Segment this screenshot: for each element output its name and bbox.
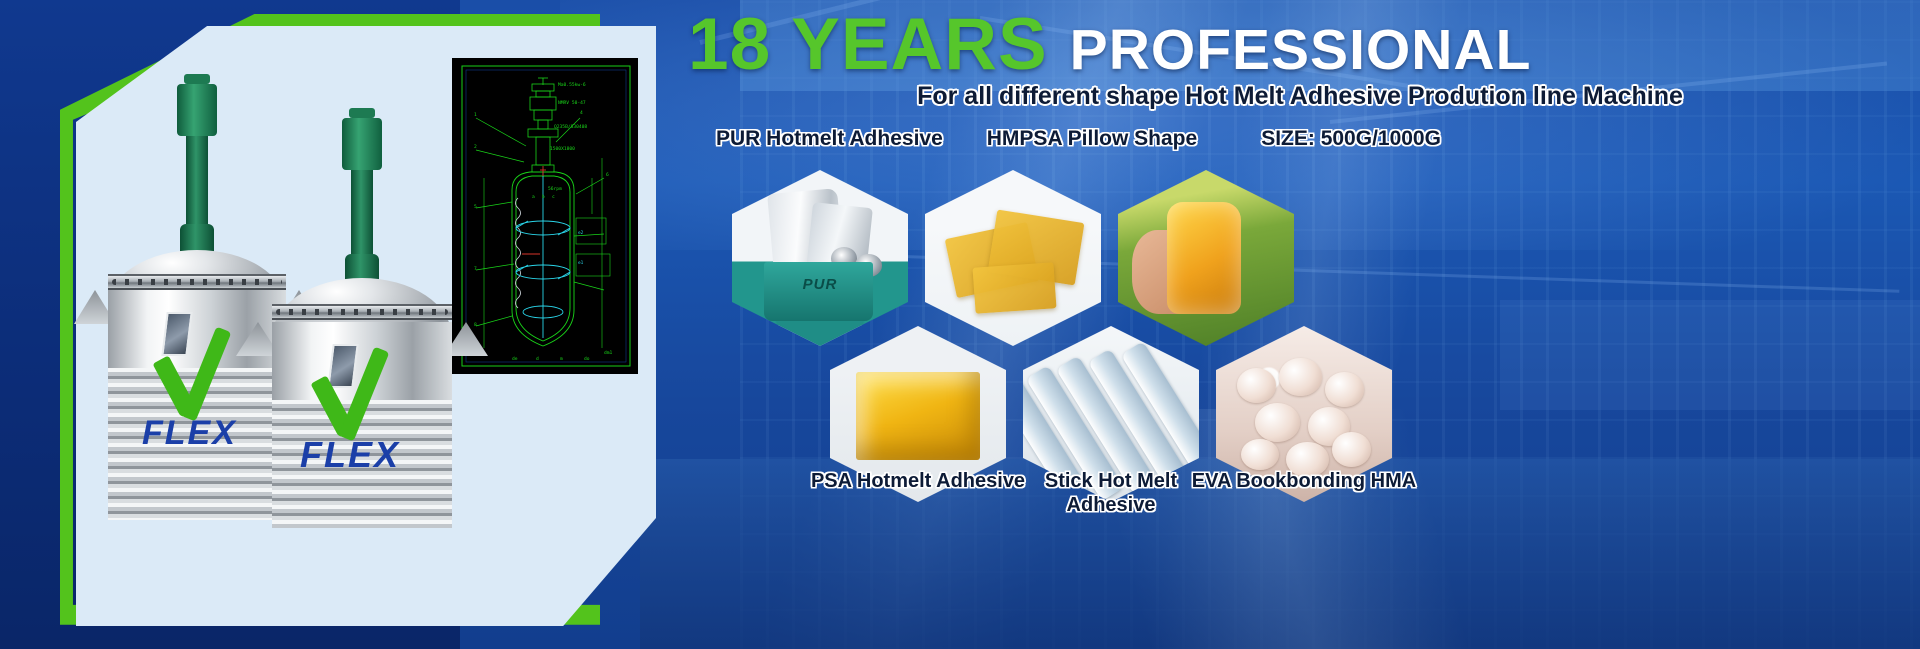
category-label-pur: PUR Hotmelt Adhesive [716, 127, 943, 151]
svg-text:b: b [542, 194, 545, 200]
tank2-motor-cap [349, 108, 375, 118]
svg-text:6: 6 [606, 172, 609, 178]
headline-years: 18 YEARS [688, 8, 1048, 81]
svg-text:c: c [552, 195, 555, 200]
svg-text:de: de [512, 356, 518, 362]
headline-professional: PROFESSIONAL [1070, 22, 1532, 79]
tank-motor-cap [184, 74, 210, 84]
svg-text:4: 4 [580, 110, 583, 116]
promo-banner: Ma0.55kw-6 NMRV 50-47 Q235B/S30408 1500X… [0, 0, 1920, 649]
svg-text:d: d [536, 356, 539, 362]
product-label-eva: EVA Bookbonding HMA [1188, 470, 1420, 494]
svg-text:56rpm: 56rpm [548, 186, 562, 192]
flex-logo-text-left: FLEX [142, 414, 237, 453]
category-label-hmpsa: HMPSA Pillow Shape [987, 127, 1197, 151]
background-beam-5 [1500, 300, 1920, 410]
product-label-psa: PSA Hotmelt Adhesive [788, 470, 1048, 494]
svg-text:a: a [532, 195, 535, 200]
flex-logo-right: FLEX [300, 372, 418, 480]
pillow-shape-adhesive-pack [1167, 202, 1241, 315]
svg-text:do: do [584, 356, 590, 362]
psa-amber-block [856, 372, 979, 460]
svg-text:8: 8 [474, 322, 477, 328]
svg-text:dm1: dm1 [604, 350, 613, 356]
category-label-size: SIZE: 500G/1000G [1261, 127, 1441, 151]
tank-motor [177, 84, 217, 136]
svg-text:5: 5 [474, 204, 477, 210]
svg-text:1500X1800: 1500X1800 [550, 146, 575, 152]
tank-sight-glass [161, 312, 192, 356]
svg-text:e1: e1 [578, 260, 584, 266]
svg-text:NMRV 50-47: NMRV 50-47 [558, 100, 586, 106]
subheadline: For all different shape Hot Melt Adhesiv… [700, 82, 1900, 111]
svg-text:Q235B/S30408: Q235B/S30408 [554, 124, 587, 130]
flex-logo-text-right: FLEX [300, 434, 400, 476]
tank2-bolt-flange [272, 304, 452, 320]
hmpsa-sheet-3 [973, 262, 1057, 313]
eva-pellet [1332, 432, 1371, 467]
eva-pellet [1255, 403, 1301, 442]
product-label-stick: Stick Hot Melt Adhesive [1036, 470, 1186, 517]
pur-pail-label: PUR [732, 276, 908, 293]
tank2-motor [342, 118, 382, 170]
tank2-flange-bolts [276, 309, 448, 315]
tank-bolt-flange [108, 274, 286, 290]
svg-text:1: 1 [474, 112, 477, 118]
category-label-row: PUR Hotmelt Adhesive HMPSA Pillow Shape … [706, 127, 1896, 151]
svg-text:7: 7 [474, 266, 477, 272]
flex-logo-left: FLEX [142, 352, 252, 460]
reactor-blueprint-image: Ma0.55kw-6 NMRV 50-47 Q235B/S30408 1500X… [452, 58, 638, 374]
eva-pellet [1325, 372, 1364, 407]
tank-flange-bolts [112, 279, 282, 285]
svg-text:Ma0.55kw-6: Ma0.55kw-6 [558, 82, 586, 88]
headline: 18 YEARS PROFESSIONAL [688, 8, 1898, 81]
svg-text:e2: e2 [578, 230, 584, 236]
svg-text:m: m [560, 357, 563, 362]
eva-pellet [1279, 358, 1321, 397]
eva-pellet [1237, 368, 1276, 403]
eva-pellet [1241, 439, 1280, 471]
svg-text:2: 2 [474, 144, 477, 150]
